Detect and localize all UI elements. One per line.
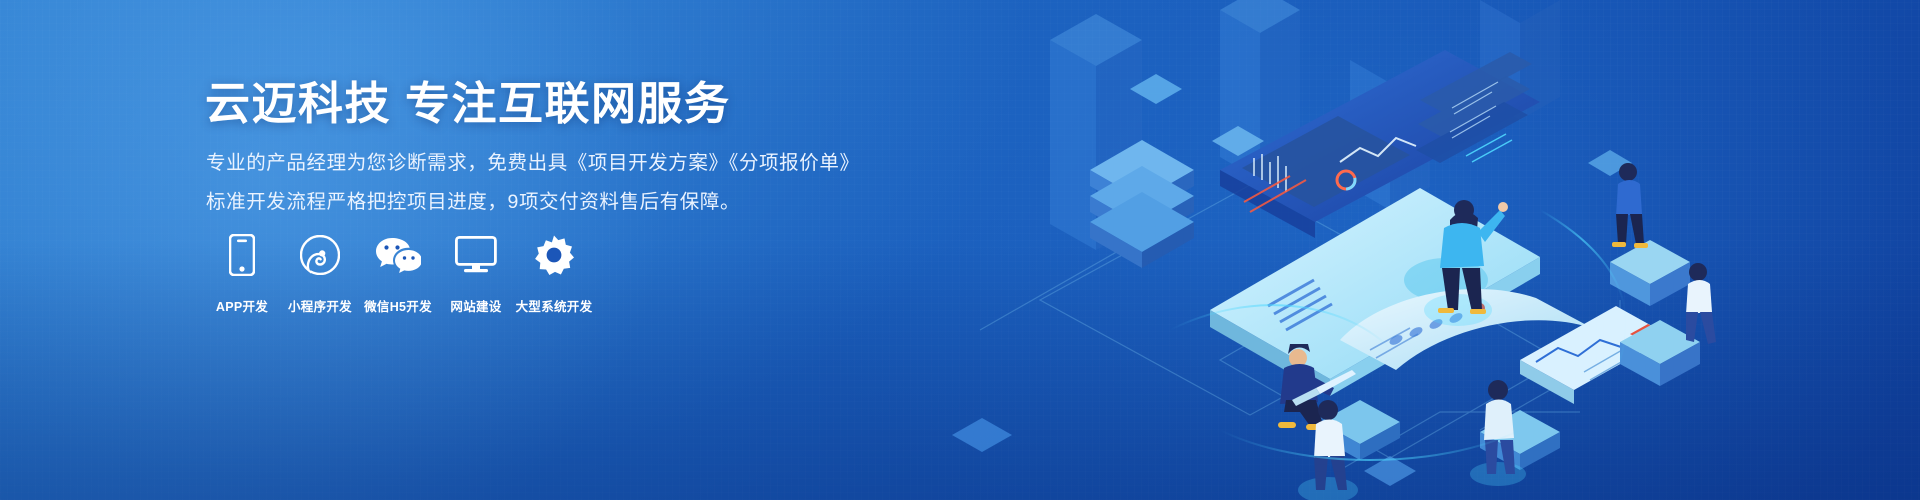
banner-content: 云迈科技专注互联网服务 专业的产品经理为您诊断需求，免费出具《项目开发方案》《分… [205, 0, 985, 500]
page-title: 云迈科技专注互联网服务 [205, 79, 731, 129]
subtitle-line-1: 专业的产品经理为您诊断需求，免费出具《项目开发方案》《分项报价单》 [206, 146, 860, 175]
subtitle-line-2: 标准开发流程严格把控项目进度，9项交付资料售后有保障。 [206, 185, 740, 214]
service-item-mini-program[interactable]: 小程序开发 [283, 232, 357, 315]
hero-banner: 云迈科技专注互联网服务 专业的产品经理为您诊断需求，免费出具《项目开发方案》《分… [0, 0, 1920, 500]
gear-icon [534, 232, 574, 278]
service-label: APP开发 [216, 296, 268, 315]
service-item-website[interactable]: 网站建设 [439, 232, 513, 315]
monitor-icon [455, 232, 497, 278]
service-label: 微信H5开发 [364, 296, 432, 315]
service-label: 网站建设 [450, 296, 501, 315]
person-walking-right [1686, 263, 1716, 344]
service-item-wechat-h5[interactable]: 微信H5开发 [361, 232, 435, 315]
mini-program-icon [300, 232, 340, 278]
person-on-cube-right [1612, 163, 1648, 248]
mobile-phone-icon [229, 232, 255, 278]
service-list: APP开发 小程序开发 [205, 232, 595, 315]
service-item-large-system[interactable]: 大型系统开发 [517, 232, 591, 315]
headline-tagline: 专注互联网服务 [405, 78, 731, 129]
headline-brand: 云迈科技 [205, 78, 391, 129]
service-label: 大型系统开发 [516, 296, 593, 315]
wechat-icon [375, 232, 421, 278]
service-item-app[interactable]: APP开发 [205, 232, 279, 315]
service-label: 小程序开发 [288, 296, 352, 315]
isometric-tech-illustration [920, 0, 1920, 500]
